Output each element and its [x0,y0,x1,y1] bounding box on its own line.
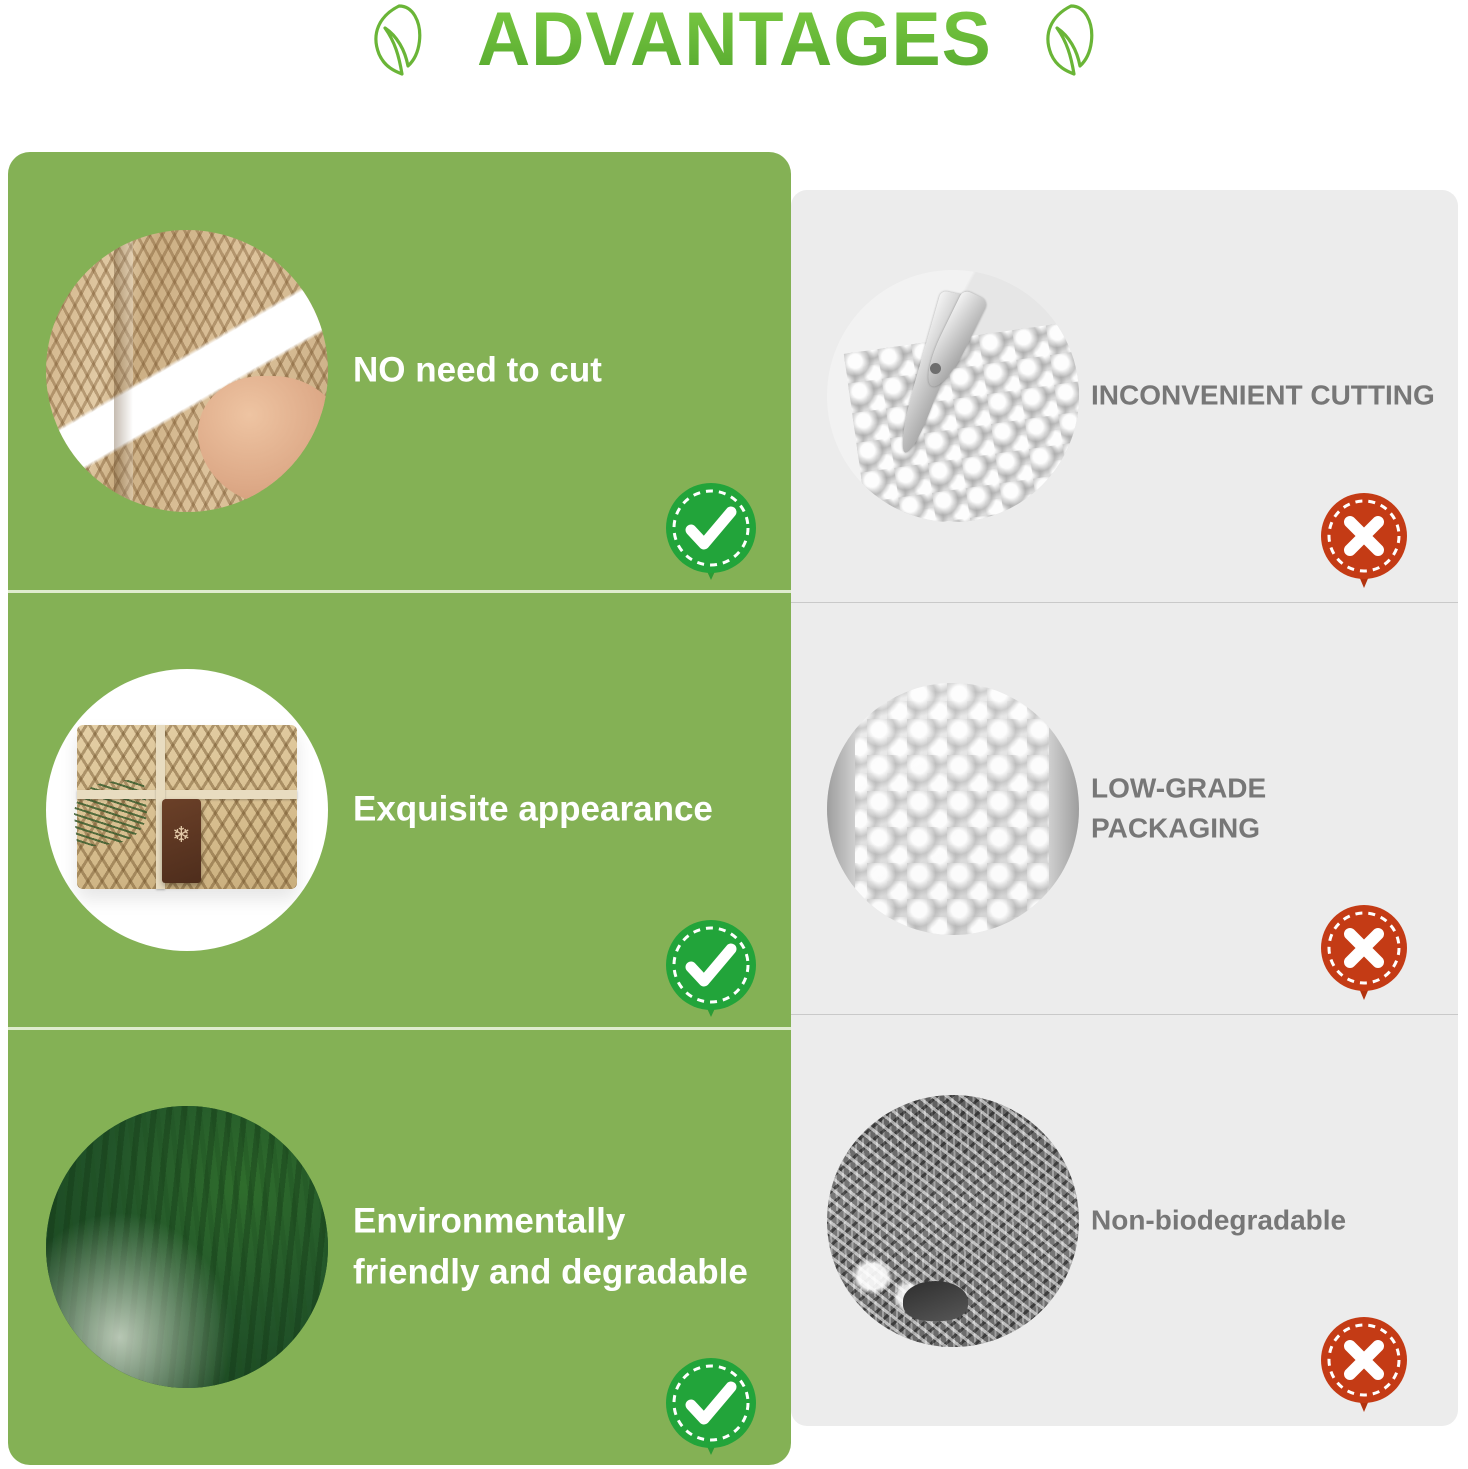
disadvantage-label: LOW-GRADE PACKAGING [1091,768,1440,849]
check-badge [659,480,763,584]
advantages-panel: NO need to cut Exqui [8,152,791,1465]
disadvantages-panel: INCONVENIENT CUTTING LOW-GRADE PACKAGING [791,190,1458,1426]
advantage-label-line1: Environmentally [353,1197,751,1248]
check-badge [659,917,763,1021]
disadvantage-row: Non-biodegradable [791,1014,1458,1426]
disadvantage-row: INCONVENIENT CUTTING [791,190,1458,602]
wrapped-gift-photo [46,669,328,951]
disadvantage-label: Non-biodegradable [1091,1200,1440,1241]
forest-photo [46,1106,328,1388]
honeycomb-paper-tearing-photo [46,230,328,512]
advantage-row: Exquisite appearance [8,590,791,1028]
advantage-label-line2: friendly and degradable [353,1247,751,1298]
advantage-label: Environmentally friendly and degradable [353,1197,751,1299]
advantage-row: Environmentally friendly and degradable [8,1027,791,1465]
advantage-label: NO need to cut [353,345,751,396]
plastic-waste-photo [827,1095,1079,1347]
disadvantage-row: LOW-GRADE PACKAGING [791,602,1458,1014]
check-badge [659,1355,763,1459]
loose-bubble-wrap-photo [827,683,1079,935]
disadvantage-label: INCONVENIENT CUTTING [1091,376,1440,417]
comparison-panels: NO need to cut Exqui [0,0,1468,1469]
cross-badge [1312,1312,1416,1416]
scissors-cutting-bubble-wrap-photo [827,270,1079,522]
cross-badge [1312,900,1416,1004]
advantage-label: Exquisite appearance [353,785,751,836]
advantage-row: NO need to cut [8,152,791,590]
cross-badge [1312,488,1416,592]
